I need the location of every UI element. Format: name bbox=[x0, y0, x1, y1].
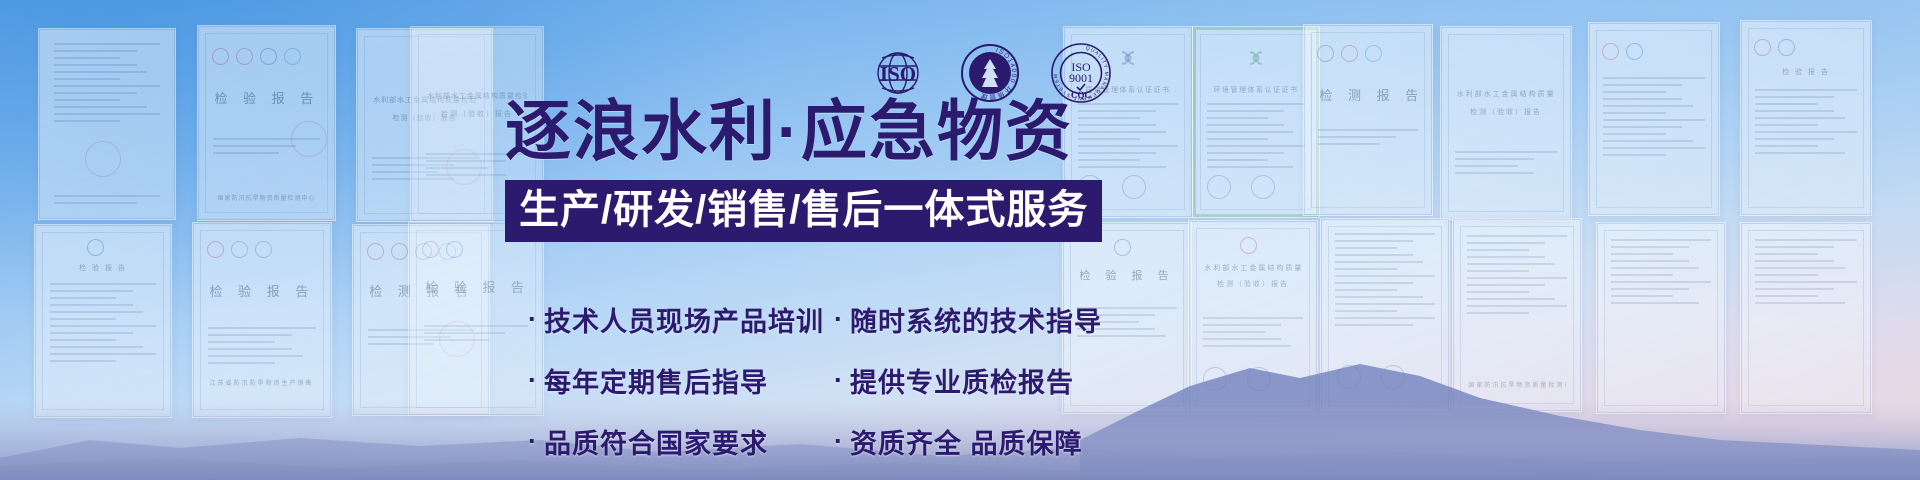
page-title: 逐浪水利·应急物资 bbox=[505, 98, 1085, 164]
certificate-cert-inspection-report-3: 检 验 报 告 bbox=[1740, 20, 1872, 216]
certificate-title: 环境管理体系认证证书 bbox=[1208, 85, 1304, 95]
certificate-cert-inspection-report-4: 检 验 报 告 bbox=[34, 224, 172, 418]
feature-label: 提供专业质检报告 bbox=[850, 361, 1074, 400]
bullet-icon: · bbox=[528, 428, 538, 455]
certificate-title: 检 验 报 告 bbox=[51, 263, 154, 273]
feature-label: 技术人员现场产品培训 bbox=[544, 300, 824, 339]
certificate-cert-water-conservancy-3: 水利部水工金属结构质量检验测试中心 检测（验收）报告 bbox=[1440, 26, 1572, 220]
certificate-cert-company-list: 检 验 报 告 江苏省防汛防旱物资生产销售资质单位 bbox=[192, 222, 332, 418]
feature-item: · 提供专业质检报告 bbox=[834, 361, 1084, 400]
certificate-title: 检 验 报 告 bbox=[214, 88, 318, 107]
certificate-cert-test-report-3: 国家防汛抗旱物资质量检测中心 bbox=[1452, 218, 1582, 412]
certificate-cert-water-conservancy-4: 水利部水工金属结构质量检验测试中心 检测（验收）报告 bbox=[1188, 220, 1318, 414]
certificate-title: 检 验 报 告 bbox=[425, 277, 527, 296]
subtitle-banner: 生产/研发/销售/售后一体式服务 bbox=[505, 180, 1102, 242]
certificate-cert-report-side-2 bbox=[1740, 222, 1872, 414]
certificate-cert-report-side-1 bbox=[1596, 222, 1726, 414]
bullet-icon: · bbox=[528, 306, 538, 333]
certificate-cert-inspection-report-2 bbox=[1588, 22, 1720, 216]
certificate-cert-water-conservancy-1: 水利部水工金属结构质量检验测试中心 检测（验收）报告 bbox=[356, 28, 493, 222]
certificate-title: 水利部水工金属结构质量检验测试中心 bbox=[1204, 263, 1301, 273]
certificate-cert-english-report bbox=[1320, 218, 1450, 414]
iso9001-line2: 9001 bbox=[1069, 71, 1093, 85]
feature-item: · 随时系统的技术指导 bbox=[834, 300, 1084, 339]
certificate-subtitle: 检测（验收）报告 bbox=[1457, 107, 1556, 117]
certificate-cert-environment-system: 环境管理体系认证证书 bbox=[1192, 26, 1320, 218]
certificate-subtitle: 检测（验收）报告 bbox=[373, 113, 476, 123]
feature-list: · 技术人员现场产品培训 · 随时系统的技术指导 · 每年定期售后指导 · 提供… bbox=[528, 300, 1084, 461]
feature-item: · 每年定期售后指导 bbox=[528, 361, 808, 400]
feature-item: · 品质符合国家要求 bbox=[528, 422, 808, 461]
certificate-footer: 国家防汛抗旱物资质量检测中心 bbox=[214, 193, 318, 202]
certificate-title: 水利部水工金属结构质量检验测试中心 bbox=[373, 95, 476, 105]
iso-globe-icon: ISO bbox=[866, 50, 930, 96]
certificate-title: 检 测 报 告 bbox=[369, 281, 472, 300]
feature-item: · 资质齐全 品质保障 bbox=[834, 422, 1084, 461]
certificate-cert-english-cert: 检 验 报 告 bbox=[408, 222, 544, 416]
certificate-cert-test-report-1: 检 测 报 告 bbox=[1303, 24, 1433, 216]
promo-banner: 检 验 报 告 国家防汛抗旱物资质量检测中心 水利部水工金属结构质量检验测试中心… bbox=[0, 0, 1920, 480]
certificate-cert-test-report-2: 检 测 报 告 bbox=[352, 224, 490, 416]
atom-icon bbox=[1243, 45, 1269, 71]
atom-icon bbox=[1115, 45, 1141, 71]
certificate-title: 检 验 报 告 bbox=[1757, 67, 1856, 77]
bullet-icon: · bbox=[834, 306, 844, 333]
feature-label: 随时系统的技术指导 bbox=[850, 300, 1102, 339]
certificate-cert-report-en bbox=[38, 28, 176, 220]
certificate-title: 水利部水工金属结构质量检验测试中心 bbox=[1457, 89, 1556, 99]
headline-block: 逐浪水利·应急物资 生产/研发/销售/售后一体式服务 bbox=[505, 98, 1085, 242]
feature-label: 品质符合国家要求 bbox=[544, 422, 768, 461]
bullet-icon: · bbox=[528, 367, 538, 394]
feature-item: · 技术人员现场产品培训 bbox=[528, 300, 808, 339]
feature-label: 每年定期售后指导 bbox=[544, 361, 768, 400]
bullet-icon: · bbox=[834, 428, 844, 455]
certificate-title: 检 验 报 告 bbox=[210, 281, 315, 300]
certificate-title: 检 验 报 告 bbox=[1078, 267, 1175, 283]
feature-label: 资质齐全 品质保障 bbox=[850, 422, 1083, 461]
bullet-icon: · bbox=[834, 367, 844, 394]
certificate-title: 检 测 报 告 bbox=[1319, 85, 1416, 104]
iso-globe-label: ISO bbox=[880, 62, 916, 86]
certificate-cert-inspection-report-1: 检 验 报 告 国家防汛抗旱物资质量检测中心 bbox=[197, 25, 336, 221]
